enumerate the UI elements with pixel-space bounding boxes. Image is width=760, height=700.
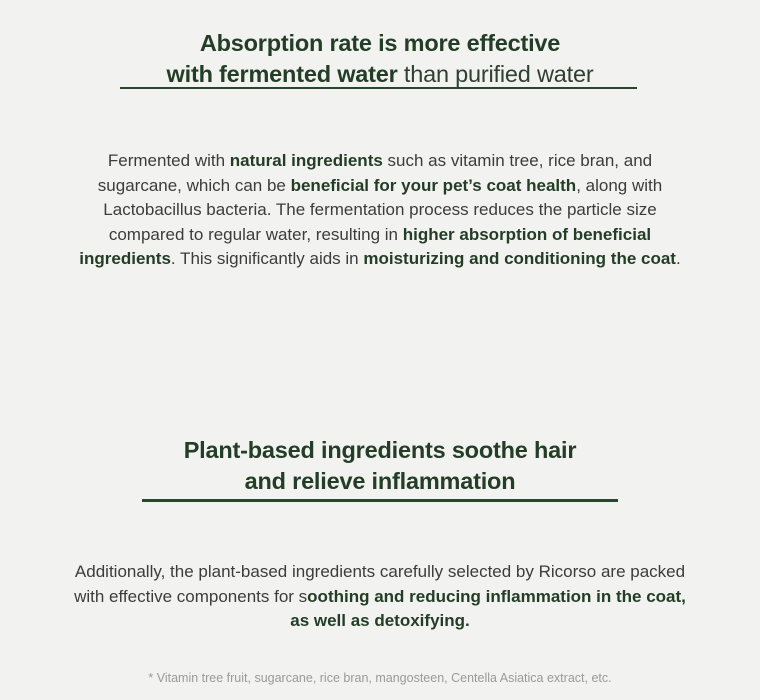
section-one-divider: [120, 87, 637, 89]
text-run: .: [676, 249, 681, 268]
emphasis-run: moisturizing and conditioning the coat: [363, 249, 676, 268]
ingredients-footnote: * Vitamin tree fruit, sugarcane, rice br…: [70, 670, 690, 687]
section-two-paragraph: Additionally, the plant-based ingredient…: [70, 560, 690, 634]
emphasis-run: beneficial for your pet’s coat health: [291, 176, 577, 195]
section-one-heading-suffix: than purified water: [398, 61, 594, 87]
text-run: . This significantly aids in: [171, 249, 363, 268]
emphasis-run: natural ingredients: [230, 151, 383, 170]
section-one-paragraph: Fermented with natural ingredients such …: [70, 149, 690, 272]
section-one-heading-emphasis: with fermented water: [167, 61, 398, 87]
section-two-heading: Plant-based ingredients soothe hair and …: [80, 435, 680, 497]
section-one-heading-line-2: with fermented water than purified water: [80, 59, 680, 90]
section-one-heading: Absorption rate is more effective with f…: [80, 28, 680, 90]
section-one-heading-line-1: Absorption rate is more effective: [80, 28, 680, 59]
promo-page: Absorption rate is more effective with f…: [0, 0, 760, 700]
emphasis-run: oothing and reducing inflammation in the…: [290, 587, 686, 631]
section-two-divider: [142, 499, 618, 502]
section-two-heading-line-2: and relieve inflammation: [80, 466, 680, 497]
text-run: Fermented with: [108, 151, 230, 170]
section-two-heading-line-1: Plant-based ingredients soothe hair: [80, 435, 680, 466]
